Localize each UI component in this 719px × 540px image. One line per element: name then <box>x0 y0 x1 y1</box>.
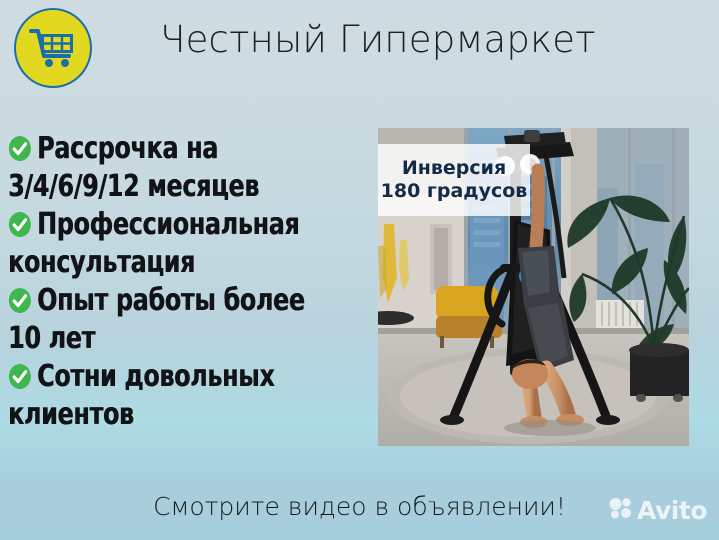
list-item: Рассрочка на 3/4/6/9/12 месяцев <box>8 130 335 206</box>
green-check-circle-icon <box>8 134 32 161</box>
inversion-badge-line1: Инверсия <box>402 157 506 179</box>
shopping-cart-icon <box>28 26 78 70</box>
feature-list: Рассрочка на 3/4/6/9/12 месяцев Професси… <box>8 130 380 434</box>
green-check-circle-icon <box>8 210 32 237</box>
avito-wordmark-label: Avito <box>637 498 707 523</box>
list-item-label: Профессиональная консультация <box>8 207 299 280</box>
brand-logo <box>14 8 92 88</box>
green-check-circle-icon <box>8 362 32 389</box>
list-item-label: Опыт работы более 10 лет <box>8 283 305 356</box>
advertisement-card: Честный Гипермаркет Рассрочка на 3/4/6/9… <box>0 0 719 540</box>
brand-title: Честный Гипермаркет <box>160 18 596 61</box>
product-photo[interactable]: Инверсия 180 градусов <box>378 128 689 446</box>
avito-dots-icon <box>609 497 633 524</box>
header: Честный Гипермаркет <box>0 0 719 95</box>
list-item-label: Рассрочка на 3/4/6/9/12 месяцев <box>8 131 259 204</box>
list-item: Опыт работы более 10 лет <box>8 282 335 358</box>
inversion-badge: Инверсия 180 градусов <box>378 144 530 216</box>
green-check-circle-icon <box>8 286 32 313</box>
inversion-badge-line2: 180 градусов <box>381 179 528 203</box>
list-item: Профессиональная консультация <box>8 206 335 282</box>
list-item-label: Сотни довольных клиентов <box>8 359 274 432</box>
avito-watermark: Avito <box>609 497 707 524</box>
list-item: Сотни довольных клиентов <box>8 358 335 434</box>
